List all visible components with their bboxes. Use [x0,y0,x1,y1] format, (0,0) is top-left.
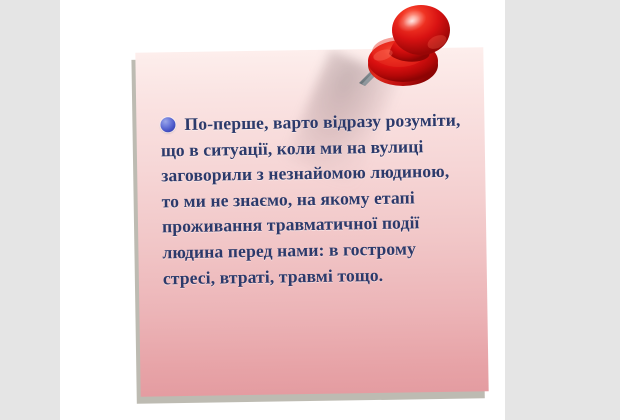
slide-area: По-перше, варто відразу розуміти, що в с… [60,0,505,420]
blue-bullet-icon [160,117,175,132]
left-margin-band [0,0,60,420]
note-text-block: По-перше, варто відразу розуміти, що в с… [160,108,469,292]
note-paragraph: По-перше, варто відразу розуміти, що в с… [161,110,461,288]
right-margin-band [505,0,620,420]
slide-canvas: По-перше, варто відразу розуміти, що в с… [0,0,620,420]
sticky-note-paper: По-перше, варто відразу розуміти, що в с… [135,47,488,396]
sticky-note[interactable]: По-перше, варто відразу розуміти, що в с… [135,47,488,396]
